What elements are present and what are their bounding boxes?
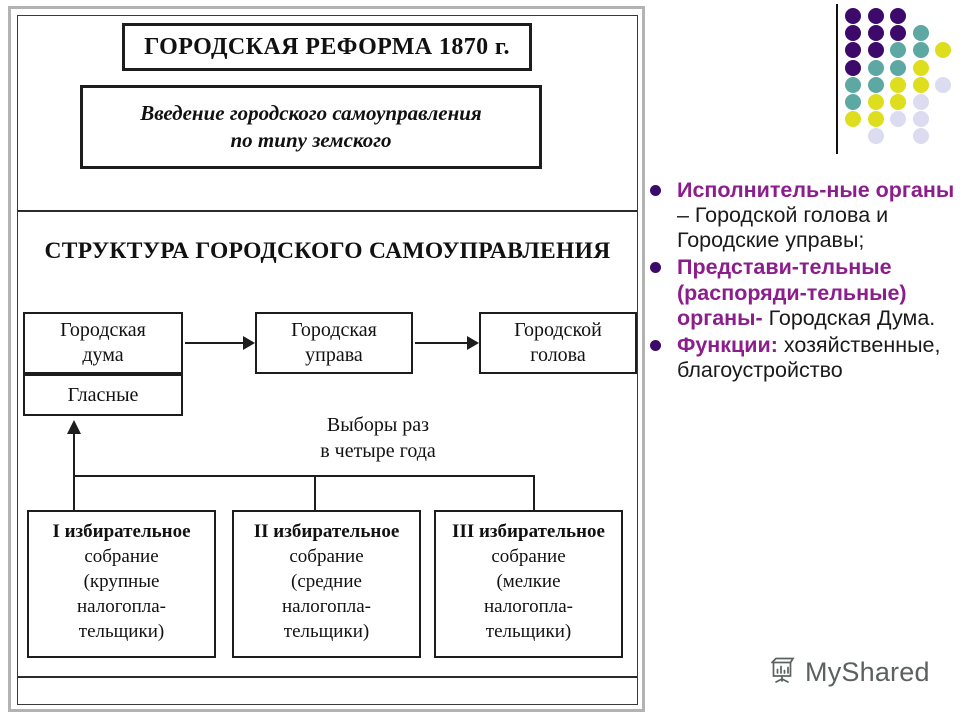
logo-dot: [913, 60, 929, 76]
box-uprava-line-2: управа: [291, 343, 377, 368]
bullet-text: Исполнитель-ные органы – Городской голов…: [677, 178, 960, 253]
logo-dot: [868, 60, 884, 76]
slide-canvas: ГОРОДСКАЯ РЕФОРМА 1870 г. Введение город…: [0, 0, 960, 720]
logo-divider-line: [836, 4, 838, 154]
logo-dot: [913, 42, 929, 58]
logo-dot: [913, 128, 929, 144]
box-glasnye: Гласные: [23, 374, 183, 416]
logo-dot: [890, 77, 906, 93]
assembly-3-line-3: (мелкие: [452, 569, 605, 594]
connector-vertical-assembly-3: [533, 475, 535, 510]
section-divider: [18, 210, 637, 212]
assembly-3-line-5: тельщики): [452, 619, 605, 644]
reform-title-box: ГОРОДСКАЯ РЕФОРМА 1870 г.: [122, 23, 532, 71]
assembly-1-line-2: собрание: [52, 544, 190, 569]
box-assembly-3: III избирательное собрание (мелкие налог…: [434, 510, 623, 658]
bullet-item-representative-bodies: Представи-тельные (распоряди-тельные) ор…: [645, 255, 960, 330]
box-glasnye-label: Гласные: [68, 383, 139, 408]
logo-dot: [935, 42, 951, 58]
diagram-frame: ГОРОДСКАЯ РЕФОРМА 1870 г. Введение город…: [17, 15, 638, 705]
box-duma-line-2: дума: [60, 343, 146, 368]
assembly-2-line-3: (средние: [254, 569, 400, 594]
box-golova-line-1: Городской: [514, 318, 602, 343]
logo-dot: [890, 111, 906, 127]
reform-intro-line-1: Введение городского самоуправления: [140, 100, 482, 127]
watermark-text: MyShared: [805, 657, 930, 688]
logo-dot: [890, 94, 906, 110]
logo-dot: [868, 111, 884, 127]
logo-dot: [845, 111, 861, 127]
logo-dot: [868, 42, 884, 58]
assembly-1-line-4: налогопла-: [52, 594, 190, 619]
assembly-2-line-5: тельщики): [254, 619, 400, 644]
assembly-1-heading: I избирательное: [52, 519, 190, 544]
bullet-item-functions: Функции: хозяйственные, благоустройство: [645, 333, 960, 383]
box-gorodskaya-uprava: Городская управа: [255, 312, 413, 374]
elections-note: Выборы раз в четыре года: [263, 412, 493, 464]
logo-dot: [845, 25, 861, 41]
bullet-dot-icon: [650, 262, 661, 273]
elections-note-line-1: Выборы раз: [263, 412, 493, 438]
box-duma-line-1: Городская: [60, 318, 146, 343]
bullet-keyword: Исполнитель-ные органы: [677, 178, 954, 202]
logo-dot: [868, 94, 884, 110]
connector-vertical-assembly-2: [314, 475, 316, 510]
assembly-1-line-3: (крупные: [52, 569, 190, 594]
connector-vertical-to-glasnye: [73, 432, 75, 477]
arrow-right-icon: [415, 336, 479, 350]
bullet-text: Представи-тельные (распоряди-тельные) ор…: [677, 255, 960, 330]
arrow-right-icon: [185, 336, 255, 350]
assembly-2-heading: II избирательное: [254, 519, 400, 544]
box-assembly-1: I избирательное собрание (крупные налого…: [27, 510, 216, 658]
connector-horizontal-bar: [73, 475, 535, 477]
assembly-3-line-4: налогопла-: [452, 594, 605, 619]
bullet-text: Функции: хозяйственные, благоустройство: [677, 333, 960, 383]
bottom-divider: [18, 676, 637, 678]
logo-dot: [935, 77, 951, 93]
bullet-detail: Городская Дума.: [763, 306, 936, 330]
logo-dot: [890, 8, 906, 24]
logo-dot: [890, 42, 906, 58]
assembly-2-line-2: собрание: [254, 544, 400, 569]
bullet-dot-icon: [650, 185, 661, 196]
presentation-board-icon: [768, 655, 798, 690]
logo-dot: [913, 94, 929, 110]
logo-dot: [913, 77, 929, 93]
diagram-panel: ГОРОДСКАЯ РЕФОРМА 1870 г. Введение город…: [8, 6, 645, 712]
elections-note-line-2: в четыре года: [263, 438, 493, 464]
reform-intro: Введение городского самоуправления по ти…: [140, 100, 482, 154]
logo-dot: [845, 8, 861, 24]
assembly-1-line-5: тельщики): [52, 619, 190, 644]
logo-dot: [845, 60, 861, 76]
dot-grid-logo: [845, 8, 957, 148]
box-assembly-2: II избирательное собрание (средние налог…: [232, 510, 421, 658]
box-golova-line-2: голова: [514, 343, 602, 368]
connector-vertical-assembly-1: [73, 475, 75, 510]
watermark: MyShared: [768, 655, 930, 690]
box-uprava-line-1: Городская: [291, 318, 377, 343]
bullet-item-executive-bodies: Исполнитель-ные органы – Городской голов…: [645, 178, 960, 253]
bullet-detail: – Городской голова и Городские управы;: [677, 203, 888, 252]
assembly-2-line-4: налогопла-: [254, 594, 400, 619]
reform-intro-box: Введение городского самоуправления по ти…: [80, 85, 542, 169]
box-gorodskaya-duma: Городская дума: [23, 312, 183, 374]
structure-heading: СТРУКТУРА ГОРОДСКОГО САМОУПРАВЛЕНИЯ: [18, 238, 637, 265]
assembly-3-line-2: собрание: [452, 544, 605, 569]
bullet-keyword: Функции:: [677, 333, 778, 357]
reform-intro-line-2: по типу земского: [140, 127, 482, 154]
logo-dot: [868, 8, 884, 24]
logo-dot: [890, 25, 906, 41]
logo-dot: [845, 42, 861, 58]
logo-dot: [845, 77, 861, 93]
reform-title: ГОРОДСКАЯ РЕФОРМА 1870 г.: [144, 34, 510, 61]
assembly-3-heading: III избирательное: [452, 519, 605, 544]
logo-dot: [890, 60, 906, 76]
logo-dot: [868, 25, 884, 41]
logo-dot: [868, 128, 884, 144]
logo-dot: [913, 25, 929, 41]
arrow-up-icon: [67, 420, 81, 434]
bullet-list: Исполнитель-ные органы – Городской голов…: [645, 178, 960, 385]
logo-dot: [868, 77, 884, 93]
bullet-dot-icon: [650, 340, 661, 351]
logo-dot: [845, 94, 861, 110]
box-gorodskoy-golova: Городской голова: [479, 312, 637, 374]
logo-dot: [913, 111, 929, 127]
